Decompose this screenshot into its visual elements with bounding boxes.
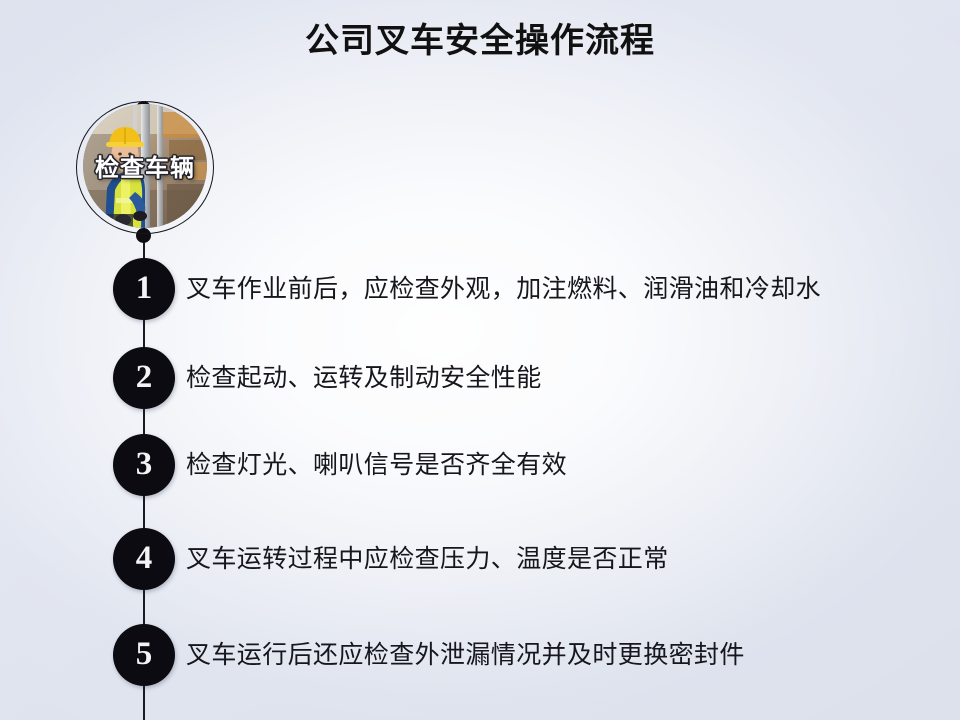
slide-canvas: 公司叉车安全操作流程 — [0, 0, 960, 720]
step-text-1: 叉车作业前后，应检查外观，加注燃料、润滑油和冷却水 — [186, 269, 821, 309]
step-text-4: 叉车运转过程中应检查压力、温度是否正常 — [186, 539, 669, 579]
step-number-badge-3: 3 — [113, 434, 175, 496]
step-number-4: 4 — [136, 542, 153, 575]
timeline-step-3[interactable]: 3 检查灯光、喇叭信号是否齐全有效 — [0, 434, 960, 498]
photo-node-label: 检查车辆 — [65, 148, 225, 183]
page-title: 公司叉车安全操作流程 — [0, 18, 960, 64]
step-number-2: 2 — [136, 361, 153, 394]
step-text-3: 检查灯光、喇叭信号是否齐全有效 — [186, 445, 567, 485]
step-number-badge-1: 1 — [113, 258, 175, 320]
timeline-step-5[interactable]: 5 叉车运行后还应检查外泄漏情况并及时更换密封件 — [0, 624, 960, 688]
step-number-3: 3 — [136, 448, 153, 481]
step-number-5: 5 — [136, 638, 153, 671]
step-text-2: 检查起动、运转及制动安全性能 — [186, 358, 542, 398]
timeline-step-1[interactable]: 1 叉车作业前后，应检查外观，加注燃料、润滑油和冷却水 — [0, 258, 960, 322]
timeline-step-4[interactable]: 4 叉车运转过程中应检查压力、温度是否正常 — [0, 528, 960, 592]
step-text-5: 叉车运行后还应检查外泄漏情况并及时更换密封件 — [186, 635, 745, 675]
step-number-badge-5: 5 — [113, 624, 175, 686]
step-number-badge-2: 2 — [113, 347, 175, 409]
step-number-badge-4: 4 — [113, 528, 175, 590]
photo-node[interactable]: 检查车辆 — [83, 104, 207, 228]
timeline-step-2[interactable]: 2 检查起动、运转及制动安全性能 — [0, 347, 960, 411]
step-number-1: 1 — [136, 272, 153, 305]
